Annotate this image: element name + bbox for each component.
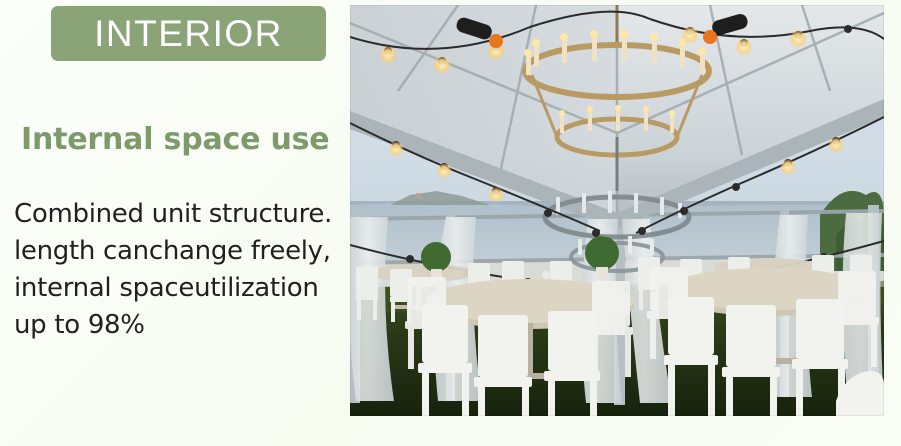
tent-interior-photo [350,5,884,416]
body-copy-line: length canchange freely, [14,233,350,270]
text-panel: INTERIOR Internal space use Combined uni… [0,0,350,446]
promo-banner: INTERIOR Internal space use Combined uni… [0,0,901,446]
body-copy-line: internal spaceutilization [14,270,350,307]
body-copy: Combined unit structure. length canchang… [14,196,350,344]
body-copy-line: Combined unit structure. [14,196,350,233]
section-badge-label: INTERIOR [94,15,283,52]
body-copy-line: up to 98% [14,307,350,344]
section-badge: INTERIOR [51,6,326,61]
tent-interior-illustration [350,5,884,416]
page-title: Internal space use [21,125,329,155]
